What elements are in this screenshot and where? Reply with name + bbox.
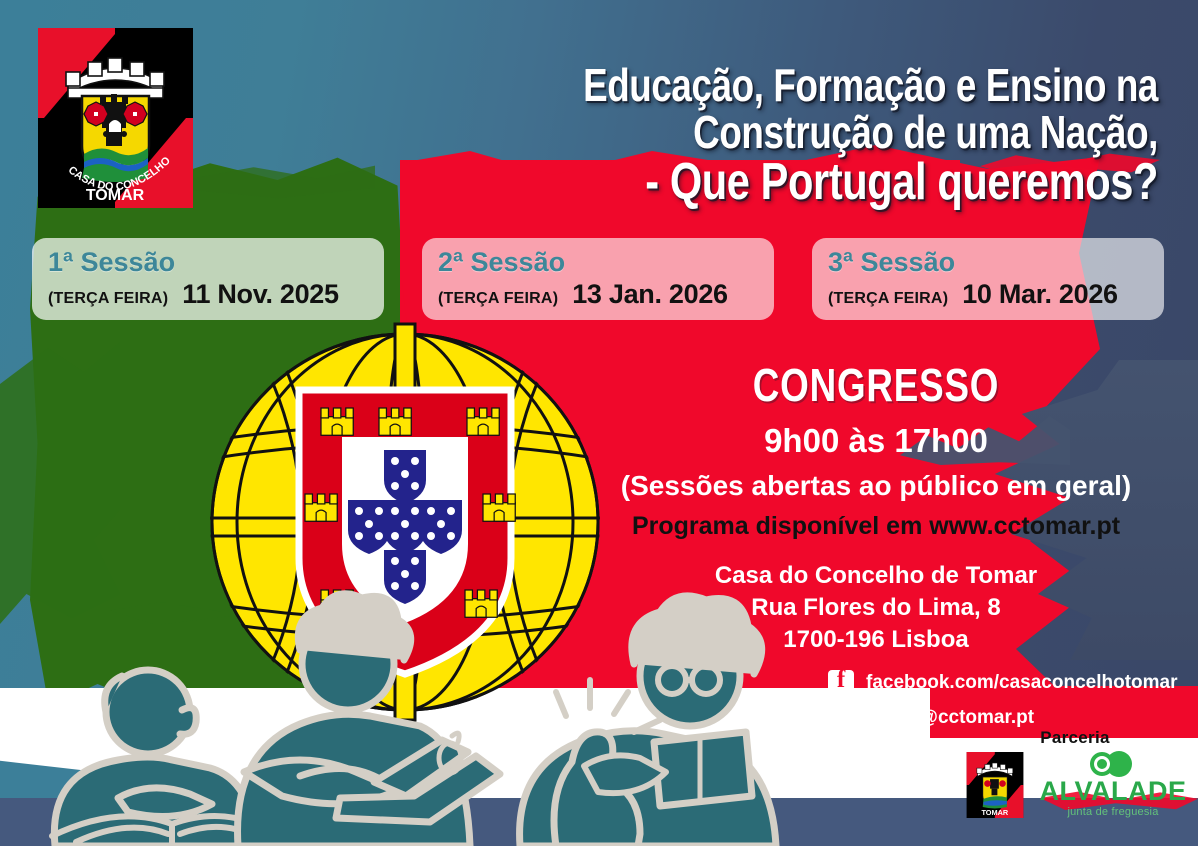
partnership-label: Parceria [952,728,1198,748]
alvalade-subtitle: junta de freguesia [1067,806,1158,818]
venue-address: Casa do Concelho de Tomar Rua Flores do … [606,560,1146,656]
session-3-title: 3ª Sessão [828,248,1148,276]
session-3-date: 10 Mar. 2026 [962,279,1118,310]
session-card-2[interactable]: 2ª Sessão (TERÇA FEIRA) 13 Jan. 2026 [422,238,774,320]
page-title: Educação, Formação e Ensino na Construçã… [406,62,1158,209]
partner-tomar-logo: TOMAR [964,752,1026,818]
venue-line-3: 1700-196 Lisboa [606,624,1146,656]
tomar-logo: CASA DO CONCELHO DE TOMAR [38,28,193,208]
partnership-block: Parceria TOMAR [952,726,1198,826]
poster-canvas: CASA DO CONCELHO DE TOMAR Educação, Form… [0,0,1198,846]
headline-line-2: - Que Portugal queremos? [406,156,1158,209]
headline-line-1: Educação, Formação e Ensino na Construçã… [406,62,1158,156]
alvalade-name: ALVALADE [1040,778,1187,805]
partner-logo-text: TOMAR [981,808,1008,817]
session-2-weekday: (TERÇA FEIRA) [438,290,558,308]
facebook-link[interactable]: facebook.com/casaconcelhotomar [828,670,1168,696]
logo-bottom-text: TOMAR [86,187,145,204]
alvalade-mark-icon [1090,751,1136,777]
event-type-heading: CONGRESSO [652,358,1100,412]
event-open-note: (Sessões abertas ao público em geral) [596,470,1156,502]
event-hours: 9h00 às 17h00 [616,422,1136,460]
facebook-url: facebook.com/casaconcelhotomar [866,672,1178,694]
session-1-weekday: (TERÇA FEIRA) [48,290,168,308]
session-1-title: 1ª Sessão [48,248,368,276]
session-card-1[interactable]: 1ª Sessão (TERÇA FEIRA) 11 Nov. 2025 [32,238,384,320]
venue-line-2: Rua Flores do Lima, 8 [606,592,1146,624]
alvalade-logo: ALVALADE junta de freguesia [1040,751,1187,818]
session-2-date: 13 Jan. 2026 [572,279,728,310]
facebook-icon [828,670,854,696]
session-1-date: 11 Nov. 2025 [182,279,339,310]
session-3-weekday: (TERÇA FEIRA) [828,290,948,308]
event-program-note: Programa disponível em www.cctomar.pt [596,512,1156,541]
contact-links: facebook.com/casaconcelhotomar geral@cct… [828,670,1168,730]
venue-line-1: Casa do Concelho de Tomar [606,560,1146,592]
session-card-3[interactable]: 3ª Sessão (TERÇA FEIRA) 10 Mar. 2026 [812,238,1164,320]
session-2-title: 2ª Sessão [438,248,758,276]
held-book [654,732,752,806]
envelope-icon [828,705,862,730]
